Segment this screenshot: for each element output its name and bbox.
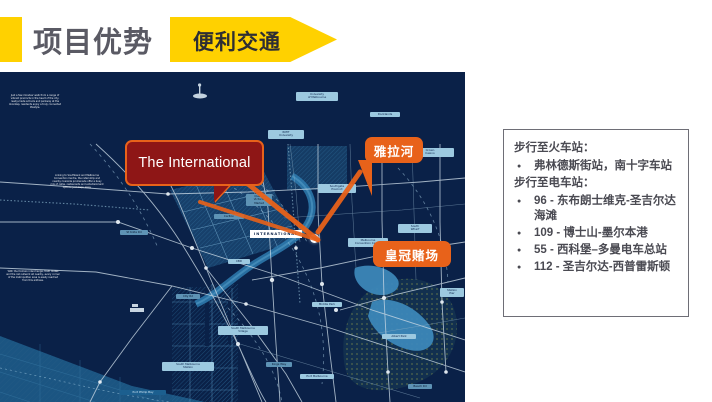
yarra-river-callout-tail	[358, 160, 372, 196]
the-international-callout[interactable]: The International	[125, 140, 264, 186]
list-item: 55 - 西科堡–多曼电车总站	[514, 243, 680, 258]
slide-header: 项目优势 便利交通	[0, 0, 712, 72]
train-heading: 步行至火车站：	[514, 141, 680, 156]
train-station-list: 弗林德斯街站，南十字车站	[514, 159, 680, 174]
tram-heading: 步行至电车站：	[514, 176, 680, 191]
yellow-accent-bar	[0, 17, 22, 62]
list-item: 112 - 圣吉尔达-西普雷斯顿	[514, 260, 680, 275]
tram-route-list: 96 - 东布朗士维克-圣吉尔达海滩 109 - 博士山-墨尔本港 55 - 西…	[514, 194, 680, 275]
transport-info-box: 步行至火车站： 弗林德斯街站，南十字车站 步行至电车站： 96 - 东布朗士维克…	[503, 129, 689, 317]
list-item: 弗林德斯街站，南十字车站	[514, 159, 680, 174]
callout-connectors	[0, 72, 465, 402]
crown-casino-callout-label: 皇冠赌场	[385, 245, 439, 264]
page-title: 项目优势	[33, 19, 153, 61]
yarra-river-callout[interactable]: 雅拉河	[365, 137, 423, 163]
arrow-banner-label: 便利交通	[193, 26, 281, 56]
the-international-callout-label: The International	[138, 155, 250, 171]
list-item: 109 - 博士山-墨尔本港	[514, 226, 680, 241]
crown-casino-callout[interactable]: 皇冠赌场	[373, 241, 451, 267]
city-map[interactable]: Just a few minutes' walk from a range of…	[0, 72, 465, 402]
yarra-river-callout-label: 雅拉河	[374, 141, 415, 160]
list-item: 96 - 东布朗士维克-圣吉尔达海滩	[514, 194, 680, 224]
